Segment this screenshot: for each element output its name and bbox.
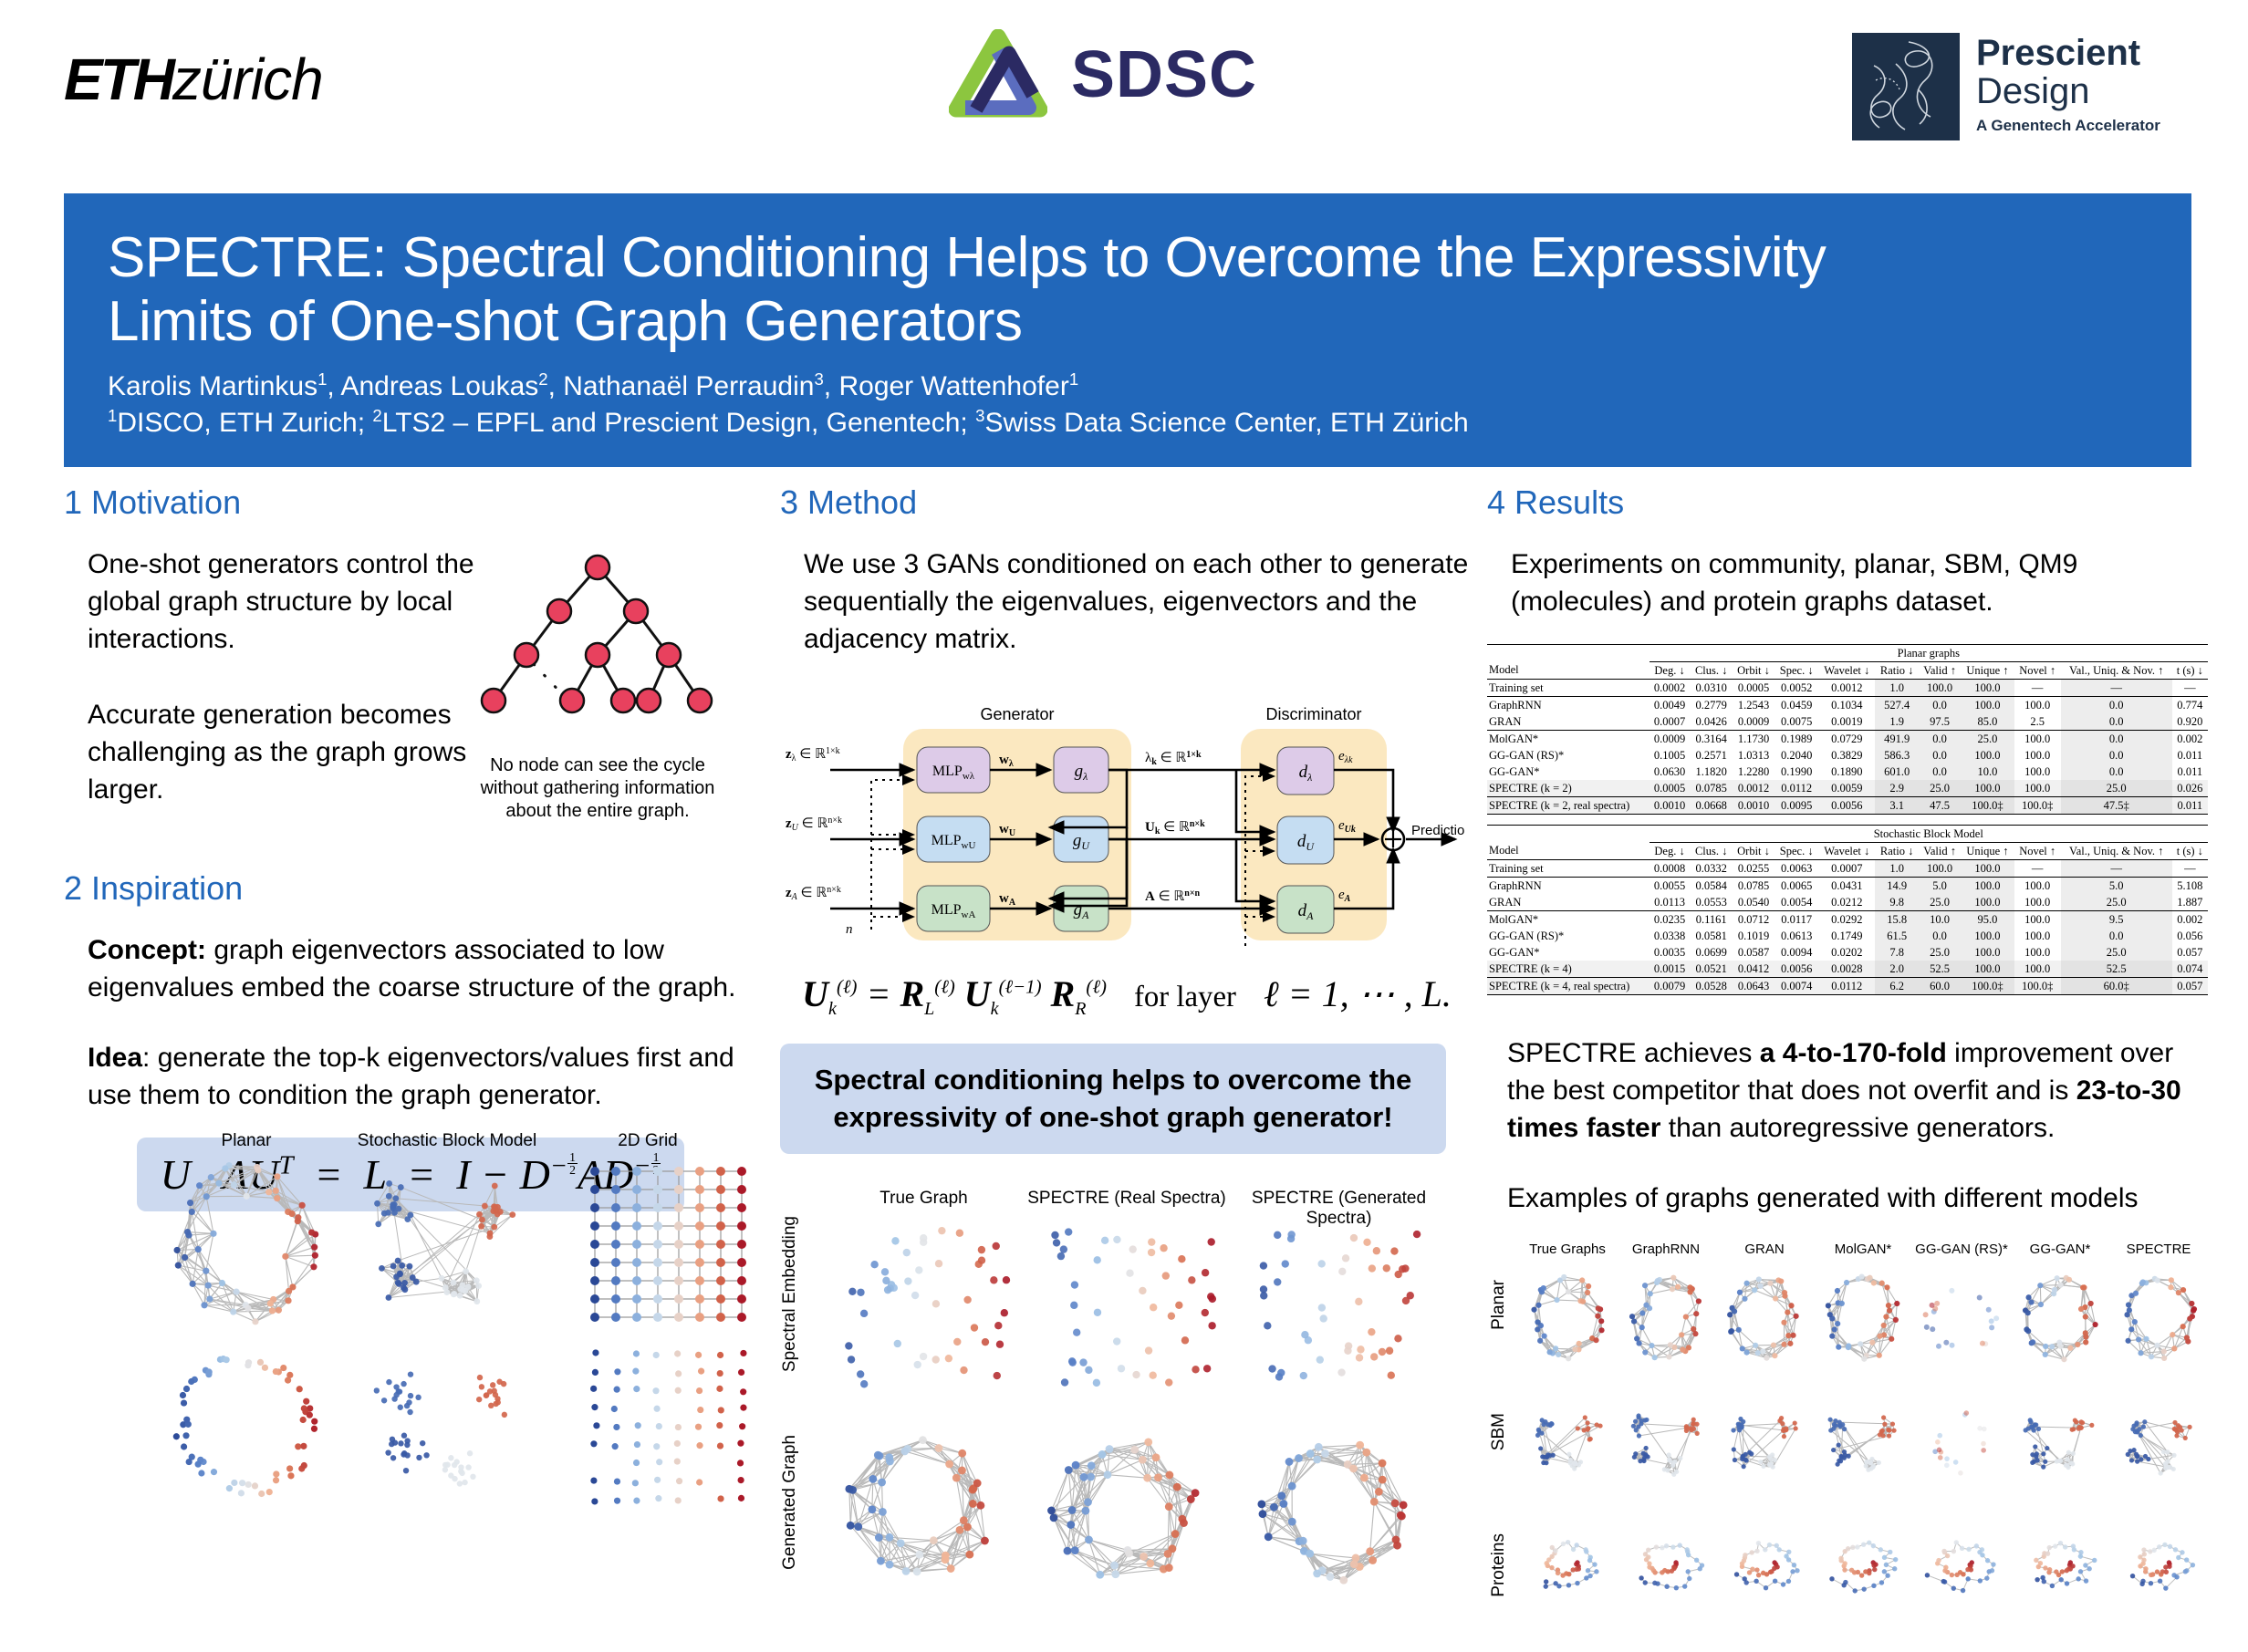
table-cell: 2.9 — [1875, 780, 1918, 797]
table-cell: 52.5 — [2061, 961, 2172, 978]
svg-text:zλ ∈ ℝ1×k: zλ ∈ ℝ1×k — [786, 746, 840, 764]
section-heading-method: 3 Method — [780, 483, 1473, 522]
eigenvector-plots-svg — [146, 1151, 748, 1553]
gallery-column-label: GG-GAN (RS)* — [1912, 1242, 2011, 1257]
title-banner: SPECTRE: Spectral Conditioning Helps to … — [64, 193, 2191, 467]
method-paragraph-1: We use 3 GANs conditioned on each other … — [804, 545, 1470, 658]
table-cell: 0.0553 — [1691, 894, 1733, 911]
gallery-column-label: GG-GAN* — [2011, 1242, 2109, 1257]
table-cell: 0.0459 — [1774, 697, 1818, 714]
table-cell: 25.0 — [2061, 894, 2172, 911]
table-cell: 0.0255 — [1733, 860, 1775, 878]
section-heading-results: 4 Results — [1487, 483, 2208, 522]
table-cell: 0.0 — [2061, 713, 2172, 731]
table-cell: 85.0 — [1961, 713, 2014, 731]
table-row: GG-GAN*0.06301.18201.22800.19900.1890601… — [1487, 764, 2208, 780]
svg-text:n: n — [846, 922, 853, 937]
table-column-header: t (s) ↓ — [2172, 662, 2208, 680]
affiliation-list: 1DISCO, ETH Zurich; 2LTS2 – EPFL and Pre… — [108, 405, 2148, 442]
table-cell: 100.0 — [1961, 680, 2014, 697]
table-cell: 0.0699 — [1691, 944, 1733, 961]
column-right: 4 Results Experiments on community, plan… — [1487, 483, 2208, 1652]
table-cell: 0.0630 — [1650, 764, 1691, 780]
table-cell: MolGAN* — [1487, 731, 1650, 748]
table-cell: 9.5 — [2061, 911, 2172, 929]
table-cell: 0.0059 — [1818, 780, 1875, 797]
table-cell: 0.920 — [2172, 713, 2208, 731]
table-column-header: Clus. ↓ — [1691, 843, 1733, 860]
table-cell: 100.0 — [1961, 747, 2014, 764]
table-cell: 100.0 — [1961, 697, 2014, 714]
layer-equation: Uk(ℓ) = RL(ℓ) Uk(ℓ−1) RR(ℓ) for layer ℓ … — [780, 972, 1473, 1020]
table-cell: 14.9 — [1875, 878, 1918, 895]
table-cell: — — [2061, 680, 2172, 697]
gallery-row-label-proteins: Proteins — [1489, 1533, 1509, 1597]
table-cell: GG-GAN (RS)* — [1487, 928, 1650, 944]
table-cell: 25.0 — [1961, 731, 2014, 748]
table-cell: 6.2 — [1875, 978, 1918, 995]
eth-zurich-logo: ETHzürich — [64, 46, 323, 113]
table-cell: 0.0008 — [1650, 860, 1691, 878]
fig-col-label-grid: 2D Grid — [547, 1131, 748, 1151]
table-cell: 25.0 — [1919, 944, 1962, 961]
inspiration-idea: Idea: generate the top-k eigenvectors/va… — [88, 1039, 754, 1114]
motivation-figure-caption: No node can see the cycle without gather… — [461, 754, 734, 823]
table-cell: 0.0007 — [1650, 713, 1691, 731]
results-table-planar-wrapper: Planar graphsModelDeg. ↓Clus. ↓Orbit ↓Sp… — [1487, 644, 2208, 817]
table-cell: 0.0079 — [1650, 978, 1691, 995]
table-cell: 61.5 — [1875, 928, 1918, 944]
inspiration-eigenvector-figure: Planar Stochastic Block Model 2D Grid — [146, 1131, 748, 1557]
table-cell: 0.0019 — [1818, 713, 1875, 731]
table-cell: — — [2172, 680, 2208, 697]
table-cell: 0.1989 — [1774, 731, 1818, 748]
prescient-wordmark: Prescient Design A Genentech Accelerator — [1976, 33, 2160, 133]
table-column-header: Spec. ↓ — [1774, 843, 1818, 860]
table-cell: GG-GAN (RS)* — [1487, 747, 1650, 764]
table-cell: 7.8 — [1875, 944, 1918, 961]
section-heading-motivation: 1 Motivation — [64, 483, 757, 522]
table-cell: 0.0584 — [1691, 878, 1733, 895]
table-cell: 100.0 — [2014, 911, 2061, 929]
gallery-row-label-planar: Planar — [1489, 1280, 1509, 1330]
table-group-title-row: Stochastic Block Model — [1487, 826, 2208, 843]
table-cell: 0.057 — [2172, 978, 2208, 995]
table-column-header: Wavelet ↓ — [1818, 843, 1875, 860]
table-cell: 100.0 — [2014, 894, 2061, 911]
table-row: GG-GAN*0.00350.06990.05870.00940.02027.8… — [1487, 944, 2208, 961]
prescient-ribbon-icon — [1852, 33, 1960, 140]
table-row: GG-GAN (RS)*0.03380.05810.10190.06130.17… — [1487, 928, 2208, 944]
table-cell: 0.0009 — [1650, 731, 1691, 748]
table-cell: 100.0 — [1961, 928, 2014, 944]
table-column-header: Unique ↑ — [1961, 662, 2014, 680]
table-cell: 0.0012 — [1818, 680, 1875, 697]
prescient-design-logo: Prescient Design A Genentech Accelerator — [1852, 33, 2160, 140]
table-row: MolGAN*0.00090.31641.17300.19890.0729491… — [1487, 731, 2208, 748]
gan-architecture-diagram: Generator Discriminator MLPwλ MLPwU MLPw… — [780, 681, 1473, 960]
inspiration-concept: Concept: graph eigenvectors associated t… — [88, 931, 754, 1006]
svg-text:Generator: Generator — [980, 705, 1054, 723]
motivation-paragraph-2: Accurate generation becomes challenging … — [88, 696, 507, 808]
table-cell: 0.0431 — [1818, 878, 1875, 895]
table-cell: 52.5 — [1919, 961, 1962, 978]
table-cell: 0.3164 — [1691, 731, 1733, 748]
eth-logo-light: zürich — [172, 47, 323, 112]
table-cell: 0.0112 — [1818, 978, 1875, 995]
table-cell: 0.0 — [1919, 764, 1962, 780]
table-column-header: Val., Uniq. & Nov. ↑ — [2061, 662, 2172, 680]
section-heading-inspiration: 2 Inspiration — [64, 869, 757, 908]
table-cell: 0.0528 — [1691, 978, 1733, 995]
table-cell: 1.1730 — [1733, 731, 1775, 748]
table-cell: 25.0 — [1919, 894, 1962, 911]
table-cell: 0.0112 — [1774, 780, 1818, 797]
table-cell: — — [2014, 680, 2061, 697]
table-empty-cell — [1487, 645, 1650, 662]
table-cell: 0.0035 — [1650, 944, 1691, 961]
gallery-column-label: MolGAN* — [1814, 1242, 1912, 1257]
table-cell: 0.0668 — [1691, 797, 1733, 815]
table-cell: 100.0‡ — [2014, 978, 2061, 995]
table-cell: 1.0313 — [1733, 747, 1775, 764]
svg-text:zU ∈ ℝn×k: zU ∈ ℝn×k — [786, 816, 842, 833]
table-cell: 100.0 — [2014, 944, 2061, 961]
table-cell: Training set — [1487, 860, 1650, 878]
table-cell: 0.0 — [2061, 928, 2172, 944]
motivation-tree-figure: No node can see the cycle without gather… — [461, 547, 734, 823]
table-cell: 60.0‡ — [2061, 978, 2172, 995]
table-cell: — — [2061, 860, 2172, 878]
table-cell: 0.0015 — [1650, 961, 1691, 978]
table-cell: 1.1820 — [1691, 764, 1733, 780]
prescient-tagline: A Genentech Accelerator — [1976, 118, 2160, 133]
table-cell: 100.0 — [1961, 944, 2014, 961]
table-cell: 100.0 — [2014, 878, 2061, 895]
table-cell: 0.0010 — [1733, 797, 1775, 815]
table-cell: 0.0540 — [1733, 894, 1775, 911]
table-cell: 0.0338 — [1650, 928, 1691, 944]
sdsc-triangle-icon — [949, 29, 1047, 120]
results-examples-caption: Examples of graphs generated with differ… — [1507, 1179, 2210, 1217]
table-cell: 0.0055 — [1650, 878, 1691, 895]
table-group-title: Stochastic Block Model — [1650, 826, 2208, 843]
table-cell: 1.0 — [1875, 680, 1918, 697]
results-gallery-svg — [1518, 1262, 2208, 1645]
table-cell: 0.0054 — [1774, 894, 1818, 911]
table-cell: 0.0581 — [1691, 928, 1733, 944]
table-cell: 0.0332 — [1691, 860, 1733, 878]
table-cell: 5.0 — [1919, 878, 1962, 895]
table-cell: 0.0712 — [1733, 911, 1775, 929]
table-column-header: Valid ↑ — [1919, 662, 1962, 680]
table-cell: 47.5 — [1919, 797, 1962, 815]
eth-logo-bold: ETH — [64, 47, 172, 112]
table-header-row: ModelDeg. ↓Clus. ↓Orbit ↓Spec. ↓Wavelet … — [1487, 843, 2208, 860]
results-table-sbm: Stochastic Block ModelModelDeg. ↓Clus. ↓… — [1487, 825, 2208, 998]
table-cell: 100.0 — [1961, 860, 2014, 878]
svg-text:A ∈ ℝn×n: A ∈ ℝn×n — [1145, 888, 1201, 904]
table-cell: 100.0 — [2014, 764, 2061, 780]
table-cell: 0.011 — [2172, 797, 2208, 815]
table-cell: 0.0729 — [1818, 731, 1875, 748]
table-cell: 100.0 — [2014, 697, 2061, 714]
table-cell: 10.0 — [1961, 764, 2014, 780]
method-results-figure: Spectral Embedding Generated Graph True … — [780, 1189, 1446, 1617]
table-cell: 0.056 — [2172, 928, 2208, 944]
table-column-header: Orbit ↓ — [1733, 843, 1775, 860]
table-cell: 0.0113 — [1650, 894, 1691, 911]
table-cell: 0.0007 — [1818, 860, 1875, 878]
logo-bar: ETHzürich SDSC — [0, 0, 2248, 173]
table-cell: 0.0426 — [1691, 713, 1733, 731]
table-row: SPECTRE (k = 4)0.00150.05210.04120.00560… — [1487, 961, 2208, 978]
table-cell: 0.2571 — [1691, 747, 1733, 764]
table-cell: 0.0063 — [1774, 860, 1818, 878]
table-column-header: Novel ↑ — [2014, 843, 2061, 860]
table-column-header: t (s) ↓ — [2172, 843, 2208, 860]
table-column-header: Ratio ↓ — [1875, 662, 1918, 680]
prescient-line-2: Design — [1976, 73, 2160, 109]
summary-pre: SPECTRE achieves — [1507, 1038, 1760, 1068]
table-column-header: Wavelet ↓ — [1818, 662, 1875, 680]
table-cell: 3.1 — [1875, 797, 1918, 815]
table-cell: 0.0056 — [1818, 797, 1875, 815]
table-cell: — — [2172, 860, 2208, 878]
table-cell: GraphRNN — [1487, 697, 1650, 714]
table-cell: 15.8 — [1875, 911, 1918, 929]
svg-text:zA ∈ ℝn×k: zA ∈ ℝn×k — [786, 885, 841, 902]
table-cell: 100.0 — [1919, 860, 1962, 878]
table-cell: 0.0065 — [1774, 878, 1818, 895]
table-column-header: Novel ↑ — [2014, 662, 2061, 680]
table-group-title: Planar graphs — [1650, 645, 2208, 662]
table-cell: 586.3 — [1875, 747, 1918, 764]
table-cell: 0.0 — [1919, 928, 1962, 944]
table-cell: 0.1005 — [1650, 747, 1691, 764]
table-cell: — — [2014, 860, 2061, 878]
table-cell: 0.0056 — [1774, 961, 1818, 978]
table-cell: 0.1749 — [1818, 928, 1875, 944]
table-cell: 5.0 — [2061, 878, 2172, 895]
table-column-header: Deg. ↓ — [1650, 843, 1691, 860]
table-cell: 100.0 — [2014, 731, 2061, 748]
table-rule-cell — [1487, 815, 2208, 818]
table-cell: GG-GAN* — [1487, 764, 1650, 780]
table-cell: 0.0094 — [1774, 944, 1818, 961]
table-cell: 0.1890 — [1818, 764, 1875, 780]
table-cell: 0.0 — [2061, 697, 2172, 714]
table-empty-cell — [1487, 826, 1650, 843]
table-cell: 0.0052 — [1774, 680, 1818, 697]
table-column-header: Valid ↑ — [1919, 843, 1962, 860]
table-row: GRAN0.00070.04260.00090.00750.00191.997.… — [1487, 713, 2208, 731]
results-paragraph-1: Experiments on community, planar, SBM, Q… — [1511, 545, 2204, 620]
results-table-sbm-wrapper: Stochastic Block ModelModelDeg. ↓Clus. ↓… — [1487, 825, 2208, 998]
table-cell: 0.0 — [2061, 764, 2172, 780]
table-row: MolGAN*0.02350.11610.07120.01170.029215.… — [1487, 911, 2208, 929]
table-column-header: Val., Uniq. & Nov. ↑ — [2061, 843, 2172, 860]
table-cell: 25.0 — [2061, 780, 2172, 797]
idea-label: Idea — [88, 1043, 142, 1073]
table-cell: 0.0587 — [1733, 944, 1775, 961]
table-cell: 0.774 — [2172, 697, 2208, 714]
table-cell: 2.5 — [2014, 713, 2061, 731]
table-cell: MolGAN* — [1487, 911, 1650, 929]
table-cell: 1.2543 — [1733, 697, 1775, 714]
fig-row-label-generated-graph: Generated Graph — [780, 1435, 800, 1570]
table-cell: 0.0235 — [1650, 911, 1691, 929]
table-cell: 0.026 — [2172, 780, 2208, 797]
table-cell: 0.0310 — [1691, 680, 1733, 697]
table-cell: 527.4 — [1875, 697, 1918, 714]
table-cell: 0.0095 — [1774, 797, 1818, 815]
table-cell: SPECTRE (k = 4) — [1487, 961, 1650, 978]
table-cell: GraphRNN — [1487, 878, 1650, 895]
method-figure-svg — [822, 1209, 1452, 1610]
table-cell: 100.0 — [2014, 747, 2061, 764]
gallery-column-label: GRAN — [1715, 1242, 1814, 1257]
table-cell: 0.0292 — [1818, 911, 1875, 929]
table-cell: 100.0 — [1961, 780, 2014, 797]
table-cell: 97.5 — [1919, 713, 1962, 731]
table-cell: 0.1019 — [1733, 928, 1775, 944]
table-cell: 100.0 — [1919, 680, 1962, 697]
table-cell: 0.0643 — [1733, 978, 1775, 995]
fig-col-label-sbm: Stochastic Block Model — [347, 1131, 547, 1151]
table-row: SPECTRE (k = 2, real spectra)0.00100.066… — [1487, 797, 2208, 815]
table-row: GraphRNN0.00550.05840.07850.00650.043114… — [1487, 878, 2208, 895]
table-cell: 0.074 — [2172, 961, 2208, 978]
table-cell: 100.0‡ — [2014, 797, 2061, 815]
fig-row-label-spectral-embedding: Spectral Embedding — [780, 1216, 800, 1372]
table-cell: 100.0 — [1961, 894, 2014, 911]
table-cell: 95.0 — [1961, 911, 2014, 929]
table-row: Training set0.00080.03320.02550.00630.00… — [1487, 860, 2208, 878]
table-cell: Training set — [1487, 680, 1650, 697]
title-line-2: Limits of One-shot Graph Generators — [108, 290, 1023, 353]
table-cell: SPECTRE (k = 2) — [1487, 780, 1650, 797]
table-cell: 100.0 — [2014, 780, 2061, 797]
table-cell: 0.2040 — [1774, 747, 1818, 764]
table-cell: 0.0412 — [1733, 961, 1775, 978]
table-cell: 1.2280 — [1733, 764, 1775, 780]
table-cell: GRAN — [1487, 713, 1650, 731]
results-summary: SPECTRE achieves a 4-to-170-fold improve… — [1507, 1034, 2210, 1147]
table-cell: 25.0 — [1919, 780, 1962, 797]
table-cell: 0.0 — [2061, 731, 2172, 748]
results-gallery: Planar SBM Proteins True GraphsGraphRNNG… — [1487, 1242, 2208, 1652]
table-cell: 0.1034 — [1818, 697, 1875, 714]
table-bottom-rule — [1487, 995, 2208, 999]
table-cell: 0.0074 — [1774, 978, 1818, 995]
table-row: SPECTRE (k = 4, real spectra)0.00790.052… — [1487, 978, 2208, 995]
gallery-column-label: GraphRNN — [1617, 1242, 1715, 1257]
table-column-header: Ratio ↓ — [1875, 843, 1918, 860]
svg-text:Prediction: Prediction — [1411, 823, 1464, 838]
table-cell: 100.0 — [1961, 878, 2014, 895]
table-cell: GRAN — [1487, 894, 1650, 911]
table-cell: 0.0212 — [1818, 894, 1875, 911]
author-list: Karolis Martinkus1, Andreas Loukas2, Nat… — [108, 369, 2148, 405]
fig-col-label-planar: Planar — [146, 1131, 347, 1151]
table-column-header: Model — [1487, 843, 1650, 860]
gallery-column-label: SPECTRE — [2109, 1242, 2208, 1257]
svg-text:Discriminator: Discriminator — [1265, 705, 1361, 723]
idea-text: : generate the top-k eigenvectors/values… — [88, 1043, 734, 1110]
table-cell: 0.002 — [2172, 731, 2208, 748]
table-cell: 0.3829 — [1818, 747, 1875, 764]
table-cell: 0.0 — [1919, 731, 1962, 748]
table-cell: 47.5‡ — [2061, 797, 2172, 815]
table-column-header: Clus. ↓ — [1691, 662, 1733, 680]
table-cell: 10.0 — [1919, 911, 1962, 929]
table-cell: 5.108 — [2172, 878, 2208, 895]
table-column-header: Model — [1487, 662, 1650, 680]
table-cell: 0.0002 — [1650, 680, 1691, 697]
table-row: Training set0.00020.03100.00050.00520.00… — [1487, 680, 2208, 697]
table-cell: 0.0005 — [1650, 780, 1691, 797]
sdsc-logo: SDSC — [949, 29, 1257, 120]
table-cell: 0.1990 — [1774, 764, 1818, 780]
table-cell: 2.0 — [1875, 961, 1918, 978]
method-callout-box: Spectral conditioning helps to overcome … — [780, 1044, 1446, 1154]
table-cell: 25.0 — [2061, 944, 2172, 961]
table-cell: 0.011 — [2172, 764, 2208, 780]
table-row: GG-GAN (RS)*0.10050.25711.03130.20400.38… — [1487, 747, 2208, 764]
table-cell: 491.9 — [1875, 731, 1918, 748]
table-cell: 0.0012 — [1733, 780, 1775, 797]
table-cell: 0.0010 — [1650, 797, 1691, 815]
table-cell: 0.0117 — [1774, 911, 1818, 929]
table-cell: 0.0005 — [1733, 680, 1775, 697]
table-cell: 601.0 — [1875, 764, 1918, 780]
table-row: GraphRNN0.00490.27791.25430.04590.103452… — [1487, 697, 2208, 714]
concept-label: Concept: — [88, 935, 206, 965]
table-cell: 0.0049 — [1650, 697, 1691, 714]
table-row: GRAN0.01130.05530.05400.00540.02129.825.… — [1487, 894, 2208, 911]
table-cell: GG-GAN* — [1487, 944, 1650, 961]
table-group-title-row: Planar graphs — [1487, 645, 2208, 662]
table-column-header: Unique ↑ — [1961, 843, 2014, 860]
table-row: SPECTRE (k = 2)0.00050.07850.00120.01120… — [1487, 780, 2208, 797]
gallery-column-label: True Graphs — [1518, 1242, 1617, 1257]
table-cell: 9.8 — [1875, 894, 1918, 911]
table-cell: 0.0202 — [1818, 944, 1875, 961]
table-header-row: ModelDeg. ↓Clus. ↓Orbit ↓Spec. ↓Wavelet … — [1487, 662, 2208, 680]
table-cell: 0.2779 — [1691, 697, 1733, 714]
table-cell: SPECTRE (k = 4, real spectra) — [1487, 978, 1650, 995]
table-cell: 0.0521 — [1691, 961, 1733, 978]
prescient-line-1: Prescient — [1976, 35, 2160, 71]
table-cell: 100.0 — [2014, 961, 2061, 978]
sdsc-wordmark: SDSC — [1071, 37, 1257, 112]
table-cell: 0.0785 — [1733, 878, 1775, 895]
table-cell: 0.0785 — [1691, 780, 1733, 797]
table-cell: 100.0‡ — [1961, 978, 2014, 995]
table-cell: 100.0‡ — [1961, 797, 2014, 815]
table-cell: 100.0 — [2014, 928, 2061, 944]
column-middle: 3 Method We use 3 GANs conditioned on ea… — [780, 483, 1473, 1617]
table-cell: 0.0009 — [1733, 713, 1775, 731]
results-table-planar: Planar graphsModelDeg. ↓Clus. ↓Orbit ↓Sp… — [1487, 644, 2208, 817]
table-cell: 1.9 — [1875, 713, 1918, 731]
table-cell: SPECTRE (k = 2, real spectra) — [1487, 797, 1650, 815]
svg-text:Uk ∈ ℝn×k: Uk ∈ ℝn×k — [1145, 819, 1205, 836]
table-cell: 0.0075 — [1774, 713, 1818, 731]
table-cell: 100.0 — [1961, 961, 2014, 978]
table-cell: 60.0 — [1919, 978, 1962, 995]
